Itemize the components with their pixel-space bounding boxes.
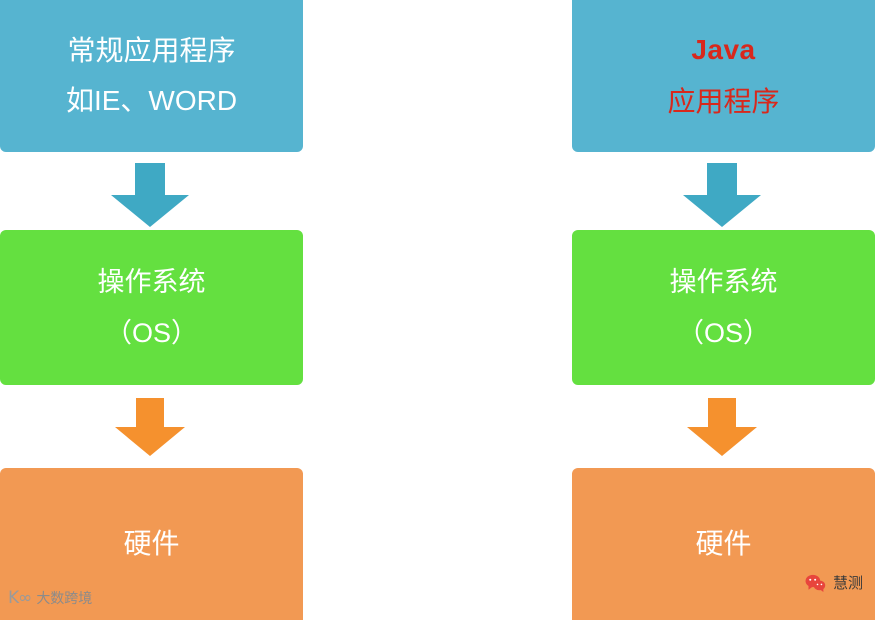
arrow-os-to-hardware-left (110, 398, 190, 458)
box-java-application: Java 应用程序 (572, 0, 875, 152)
arrow-os-to-hardware-right (682, 398, 762, 458)
watermark-left-label: 大数跨境 (36, 588, 92, 608)
wechat-icon (805, 574, 826, 592)
diagram-canvas: 常规应用程序 如IE、WORD 操作系统 （OS） 硬件 (0, 0, 877, 620)
box-line: 操作系统 (98, 264, 206, 300)
java-subtitle: 应用程序 (667, 83, 779, 121)
box-conventional-os: 操作系统 （OS） (0, 230, 303, 385)
box-line: 操作系统 (670, 264, 778, 300)
box-line: 如IE、WORD (66, 82, 237, 120)
watermark-right-label: 慧测 (833, 572, 863, 593)
box-java-os: 操作系统 （OS） (572, 230, 875, 385)
watermark-right: 慧测 (805, 572, 863, 593)
box-line: （OS） (670, 315, 778, 351)
box-line: 硬件 (695, 525, 751, 563)
box-java-hardware: 硬件 (572, 468, 875, 620)
column-java: Java 应用程序 操作系统 （OS） 硬件 (572, 0, 875, 620)
java-title: Java (667, 31, 779, 69)
box-conventional-application: 常规应用程序 如IE、WORD (0, 0, 303, 152)
box-line: （OS） (98, 315, 206, 351)
watermark-left-mark: K∞ (8, 588, 31, 608)
watermark-left: K∞ 大数跨境 (8, 588, 92, 608)
box-line: 常规应用程序 (66, 32, 237, 70)
arrow-app-to-os-right (678, 163, 766, 229)
column-conventional: 常规应用程序 如IE、WORD 操作系统 （OS） 硬件 (0, 0, 303, 620)
box-line: 硬件 (123, 525, 179, 563)
arrow-app-to-os-left (106, 163, 194, 229)
